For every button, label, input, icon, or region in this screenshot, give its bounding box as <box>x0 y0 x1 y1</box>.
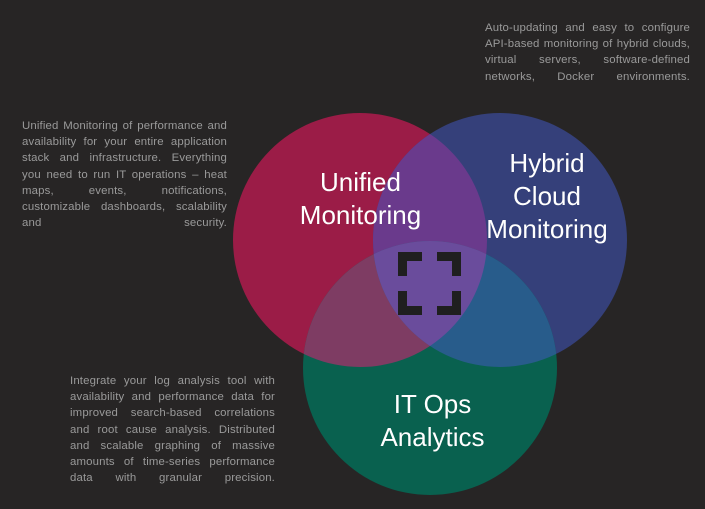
description-unified-monitoring: Unified Monitoring of performance and av… <box>22 118 227 248</box>
diagram-canvas: Unified Monitoring Hybrid Cloud Monitori… <box>0 0 705 509</box>
description-it-ops-analytics: Integrate your log analysis tool with av… <box>70 373 275 503</box>
description-hybrid-cloud-monitoring: Auto-updating and easy to configure API-… <box>485 20 690 101</box>
